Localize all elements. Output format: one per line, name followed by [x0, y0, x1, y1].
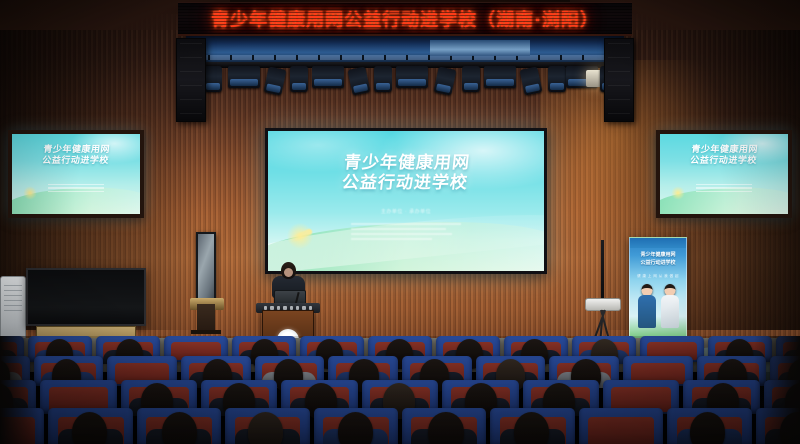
- rollup-title-line1: 青少年健康用网: [630, 252, 686, 260]
- main-projection-screen: 青少年健康用网 公益行动进学校 主办单位 · 承办单位: [265, 128, 547, 274]
- stage-light-icon: [204, 66, 222, 92]
- rollup-figure-right: [661, 284, 679, 328]
- presenter-face: [284, 268, 293, 277]
- audience-person-head: [690, 412, 725, 444]
- audience-seat: [225, 408, 309, 444]
- audience-seating: [0, 336, 800, 444]
- audience-seat: [579, 408, 663, 444]
- audience-person-head: [514, 412, 549, 444]
- led-banner-text: 青少年健康用网公益行动进学校（湖南·浏阳）: [211, 6, 599, 32]
- audience-row: [0, 408, 800, 444]
- shooting-star-icon: [22, 185, 38, 201]
- audience-seat: [402, 408, 486, 444]
- display-panel-stand: [197, 304, 215, 334]
- stage-light-icon: [374, 66, 392, 92]
- stage-light-icon: [396, 66, 428, 88]
- side-right-title-line1: 青少年健康用网: [660, 145, 788, 156]
- rollup-banner: 青少年健康用网 公益行动进学校 健 康 上 网 从 我 做 起: [629, 237, 687, 345]
- side-screen-right: 青少年健康用网 公益行动进学校: [656, 130, 792, 218]
- right-aisle-wall: [754, 336, 800, 444]
- side-left-text-lines: [48, 184, 104, 195]
- rollup-subtitle: 健 康 上 网 从 我 做 起: [630, 274, 686, 279]
- left-aisle-wall: [0, 336, 40, 444]
- audience-person-head: [72, 412, 107, 444]
- audience-person-head: [338, 412, 373, 444]
- portable-display-panel: [196, 232, 216, 304]
- audience-seat: [667, 408, 751, 444]
- truss-inner-panel: [430, 40, 530, 56]
- stage-light-icon: [290, 66, 308, 92]
- audience-seat: [314, 408, 398, 444]
- audience-seat: [490, 408, 574, 444]
- shooting-star-icon: [670, 185, 686, 201]
- stage-light-icon: [484, 66, 516, 88]
- side-left-title-line1: 青少年健康用网: [12, 145, 140, 156]
- rollup-title-line2: 公益行动进学校: [630, 260, 686, 268]
- main-screen-text-lines: [351, 223, 461, 243]
- stage-light-icon: [548, 66, 566, 92]
- shooting-star-icon: [285, 221, 315, 251]
- stage-light-icon: [462, 66, 480, 92]
- side-left-title-line2: 公益行动进学校: [12, 156, 140, 167]
- audience-person-head: [248, 412, 283, 444]
- line-array-speaker-left: [176, 38, 206, 122]
- stage-light-icon: [228, 66, 260, 88]
- led-headline-banner: 青少年健康用网公益行动进学校（湖南·浏阳）: [178, 2, 632, 36]
- audience-seat: [48, 408, 132, 444]
- camera-tripod-pole: [601, 240, 604, 302]
- audience-seat: [137, 408, 221, 444]
- stage-light-icon: [312, 66, 344, 88]
- side-right-text-lines: [696, 184, 752, 195]
- main-screen-subtitle: 主办单位 · 承办单位: [268, 208, 544, 216]
- rollup-figure-left: [638, 284, 656, 328]
- audience-person-head: [428, 412, 463, 444]
- main-screen-title-line1: 青少年健康用网: [268, 153, 544, 173]
- wall-tv-display: [26, 268, 146, 326]
- side-right-title-line2: 公益行动进学校: [660, 156, 788, 167]
- main-screen-title-line2: 公益行动进学校: [268, 173, 544, 193]
- side-screen-left: 青少年健康用网 公益行动进学校: [8, 130, 144, 218]
- line-array-speaker-right: [604, 38, 634, 122]
- auditorium-scene: 青少年健康用网公益行动进学校（湖南·浏阳） 青少年健康用网 公益行动进学校: [0, 0, 800, 444]
